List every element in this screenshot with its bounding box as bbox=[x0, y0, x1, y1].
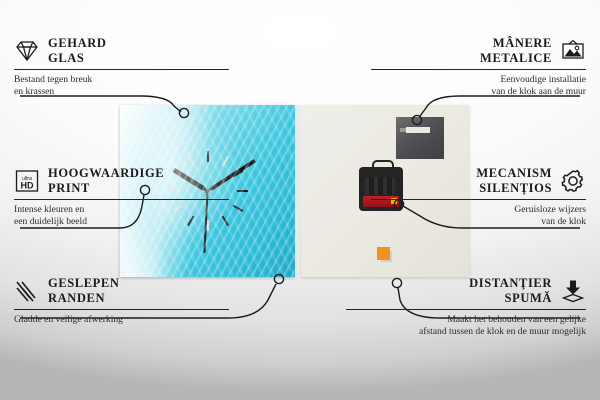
callout-title: MECANISMSILENŢIOS bbox=[476, 166, 552, 196]
callout-divider bbox=[346, 309, 586, 310]
callout-header: GEHARDGLAS bbox=[14, 36, 229, 66]
callout-hoogwaardige-print[interactable]: ultra HD HOOGWAARDIGEPRINT Intense kleur… bbox=[14, 166, 229, 228]
ultra-hd-icon: ultra HD bbox=[14, 169, 40, 193]
clock-glass-edge bbox=[295, 105, 300, 277]
callout-title: GESLEPENRANDEN bbox=[48, 276, 120, 306]
callout-title: DISTANŢIERSPUMĂ bbox=[469, 276, 552, 306]
callout-header: MECANISMSILENŢIOS bbox=[371, 166, 586, 196]
callout-title: MÂNEREMETALICE bbox=[480, 36, 552, 66]
callout-header: MÂNEREMETALICE bbox=[371, 36, 586, 66]
hanger-slot bbox=[406, 127, 430, 133]
callout-distantier-spuma[interactable]: DISTANŢIERSPUMĂ Maakt het behouden van e… bbox=[346, 276, 586, 338]
callout-description: Gladde en veilige afwerking bbox=[14, 314, 229, 326]
callout-title: GEHARDGLAS bbox=[48, 36, 106, 66]
callout-description: Maakt het behouden van een gelijkeafstan… bbox=[346, 314, 586, 338]
callout-manere-metalice[interactable]: MÂNEREMETALICE Eenvoudige installatievan… bbox=[371, 36, 586, 98]
gear-icon bbox=[560, 169, 586, 193]
svg-text:HD: HD bbox=[21, 181, 34, 191]
callout-header: ultra HD HOOGWAARDIGEPRINT bbox=[14, 166, 229, 196]
foam-spacer-icon bbox=[560, 279, 586, 303]
foam-spacer-pad bbox=[377, 247, 390, 260]
callout-description: Eenvoudige installatievan de klok aan de… bbox=[371, 74, 586, 98]
callout-gehard-glas[interactable]: GEHARDGLAS Bestand tegen breuken krassen bbox=[14, 36, 229, 98]
callout-description: Intense kleuren eneen duidelijk beeld bbox=[14, 204, 229, 228]
callout-divider bbox=[14, 69, 229, 70]
callout-title: HOOGWAARDIGEPRINT bbox=[48, 166, 164, 196]
picture-hanging-icon bbox=[560, 39, 586, 63]
callout-header: DISTANŢIERSPUMĂ bbox=[346, 276, 586, 306]
callout-mecanism-silentios[interactable]: MECANISMSILENŢIOS Geruisloze wijzersvan … bbox=[371, 166, 586, 228]
callout-divider bbox=[371, 199, 586, 200]
callout-header: GESLEPENRANDEN bbox=[14, 276, 229, 306]
beveled-edge-icon bbox=[14, 279, 40, 303]
callout-divider bbox=[371, 69, 586, 70]
callout-description: Geruisloze wijzersvan de klok bbox=[371, 204, 586, 228]
callout-divider bbox=[14, 309, 229, 310]
callout-description: Bestand tegen breuken krassen bbox=[14, 74, 229, 98]
infographic-canvas: GEHARDGLAS Bestand tegen breuken krassen… bbox=[0, 0, 600, 400]
metal-hanger-plate bbox=[396, 117, 444, 159]
callout-divider bbox=[14, 199, 229, 200]
diamond-icon bbox=[14, 39, 40, 63]
callout-geslepen-randen[interactable]: GESLEPENRANDEN Gladde en veilige afwerki… bbox=[14, 276, 229, 326]
